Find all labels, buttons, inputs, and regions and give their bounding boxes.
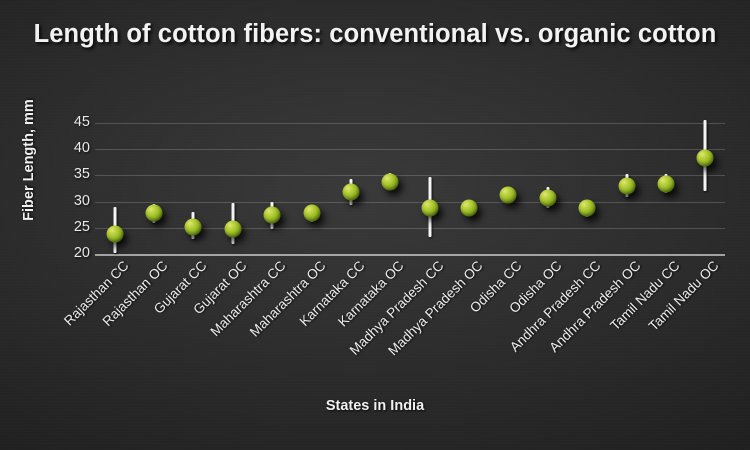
marker-sphere[interactable] bbox=[421, 199, 438, 216]
marker-sphere[interactable] bbox=[382, 173, 399, 190]
marker-sphere[interactable] bbox=[539, 189, 556, 206]
marker-sphere[interactable] bbox=[500, 186, 517, 203]
marker-sphere[interactable] bbox=[618, 177, 635, 194]
marker-sphere[interactable] bbox=[224, 221, 241, 238]
marker-sphere[interactable] bbox=[461, 199, 478, 216]
chart-title: Length of cotton fibers: conventional vs… bbox=[0, 18, 750, 52]
gridline bbox=[95, 123, 725, 124]
gridline bbox=[95, 149, 725, 150]
marker-sphere[interactable] bbox=[264, 207, 281, 224]
marker-sphere[interactable] bbox=[579, 199, 596, 216]
y-axis-tick-label: 25 bbox=[46, 219, 90, 235]
marker-sphere[interactable] bbox=[106, 226, 123, 243]
y-axis-tick-label: 20 bbox=[46, 245, 90, 261]
y-axis-tick-label: 45 bbox=[46, 114, 90, 130]
x-axis-tick-label: Tamil Nadu OC bbox=[646, 258, 722, 334]
marker-sphere[interactable] bbox=[185, 219, 202, 236]
gridline bbox=[95, 202, 725, 203]
marker-sphere[interactable] bbox=[657, 175, 674, 192]
gridline bbox=[95, 175, 725, 176]
marker-sphere[interactable] bbox=[303, 205, 320, 222]
x-axis-title: States in India bbox=[0, 398, 750, 414]
y-axis-tick-label: 35 bbox=[46, 166, 90, 182]
marker-sphere[interactable] bbox=[146, 205, 163, 222]
y-axis-tick-labels: 454035302520 bbox=[40, 123, 90, 254]
marker-sphere[interactable] bbox=[697, 149, 714, 166]
x-axis-tick-labels: Rajasthan CCRajasthan OCGujarat CCGujara… bbox=[95, 258, 725, 398]
y-axis-title: Fiber Length, mm bbox=[21, 65, 37, 255]
x-axis-tick-label: Tamil Nadu CC bbox=[607, 258, 682, 333]
y-axis-tick-label: 40 bbox=[46, 140, 90, 156]
marker-sphere[interactable] bbox=[342, 183, 359, 200]
gridline bbox=[95, 254, 725, 256]
y-axis-tick-label: 30 bbox=[46, 193, 90, 209]
chart-container: Length of cotton fibers: conventional vs… bbox=[0, 0, 750, 450]
plot-area bbox=[95, 123, 725, 254]
